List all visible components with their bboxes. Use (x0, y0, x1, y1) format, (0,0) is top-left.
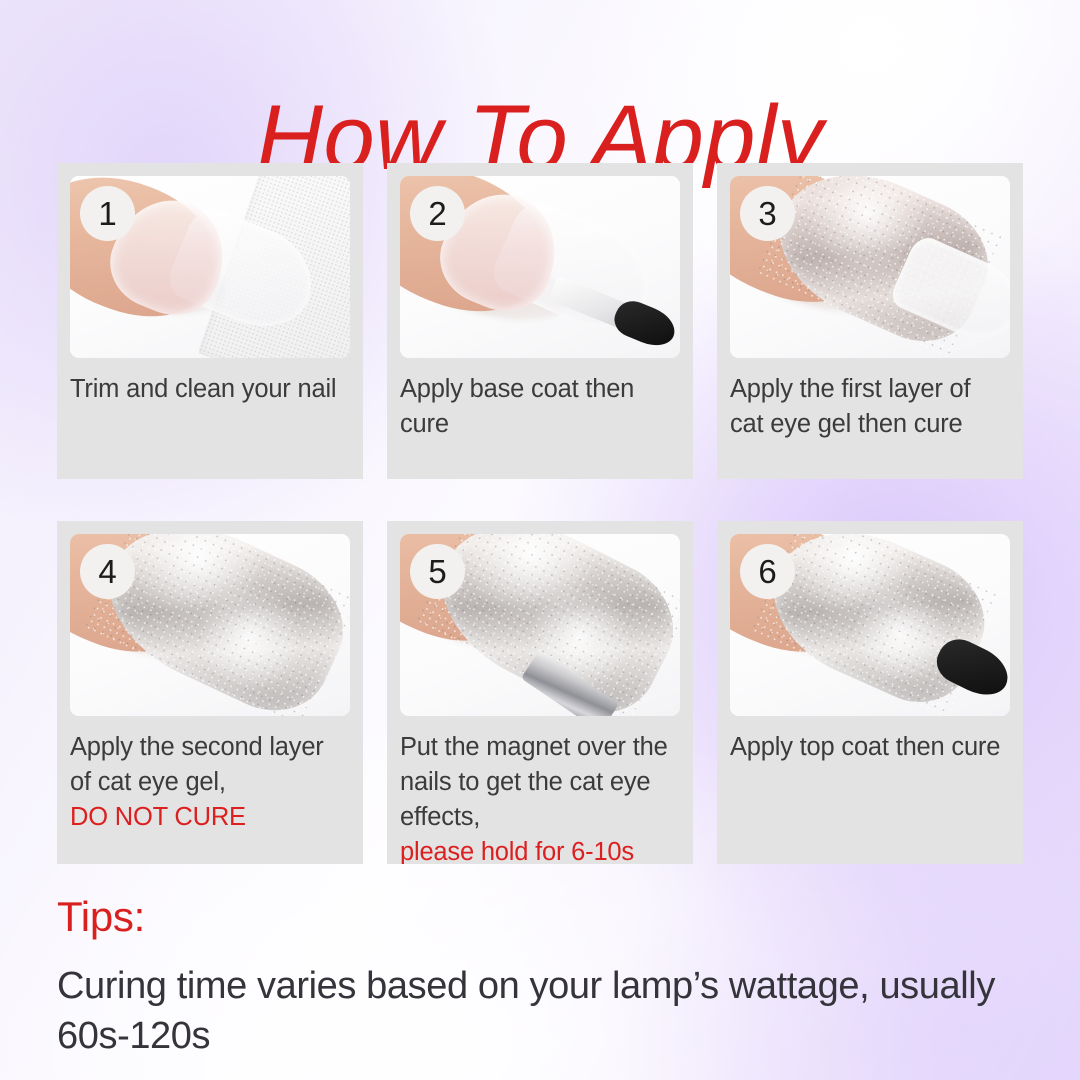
caption-text: Apply the second layer of cat eye gel, (70, 733, 324, 796)
step-card-4: 4 Apply the second layer of cat eye gel,… (57, 521, 363, 864)
step-caption-4: Apply the second layer of cat eye gel, D… (70, 730, 350, 835)
tips-heading: Tips: (57, 893, 1017, 941)
step-image-5: 5 (400, 534, 680, 716)
infographic-page: How To Apply 1 Trim and clean your nail (0, 0, 1080, 1080)
tips-section: Tips: Curing time varies based on your l… (57, 893, 1017, 1062)
step-number-badge: 4 (80, 544, 135, 599)
caption-text: Apply base coat then cure (400, 375, 634, 438)
step-caption-2: Apply base coat then cure (400, 372, 680, 442)
steps-grid: 1 Trim and clean your nail 2 Apply (57, 163, 1023, 864)
step-image-3: 3 (730, 176, 1010, 358)
step-number-badge: 6 (740, 544, 795, 599)
step-caption-3: Apply the first layer of cat eye gel the… (730, 372, 1010, 442)
step-image-4: 4 (70, 534, 350, 716)
step-image-6: 6 (730, 534, 1010, 716)
step-caption-5: Put the magnet over the nails to get the… (400, 730, 680, 864)
gel-brush-tip-icon (610, 296, 680, 353)
caption-emphasis: please hold for 6-10s (400, 835, 680, 864)
step-caption-1: Trim and clean your nail (70, 372, 350, 407)
step-number-badge: 1 (80, 186, 135, 241)
step-image-1: 1 (70, 176, 350, 358)
step-number-badge: 3 (740, 186, 795, 241)
tips-body: Curing time varies based on your lamp’s … (57, 961, 1017, 1061)
step-card-5: 5 Put the magnet over the nails to get t… (387, 521, 693, 864)
caption-emphasis: DO NOT CURE (70, 800, 350, 835)
step-number-badge: 2 (410, 186, 465, 241)
step-card-2: 2 Apply base coat then cure (387, 163, 693, 479)
caption-text: Trim and clean your nail (70, 375, 336, 403)
step-card-3: 3 Apply the first layer of cat eye gel t… (717, 163, 1023, 479)
caption-text: Put the magnet over the nails to get the… (400, 733, 668, 831)
step-caption-6: Apply top coat then cure (730, 730, 1010, 765)
step-card-6: 6 Apply top coat then cure (717, 521, 1023, 864)
step-image-2: 2 (400, 176, 680, 358)
step-number-badge: 5 (410, 544, 465, 599)
step-card-1: 1 Trim and clean your nail (57, 163, 363, 479)
caption-text: Apply top coat then cure (730, 733, 1000, 761)
caption-text: Apply the first layer of cat eye gel the… (730, 375, 970, 438)
